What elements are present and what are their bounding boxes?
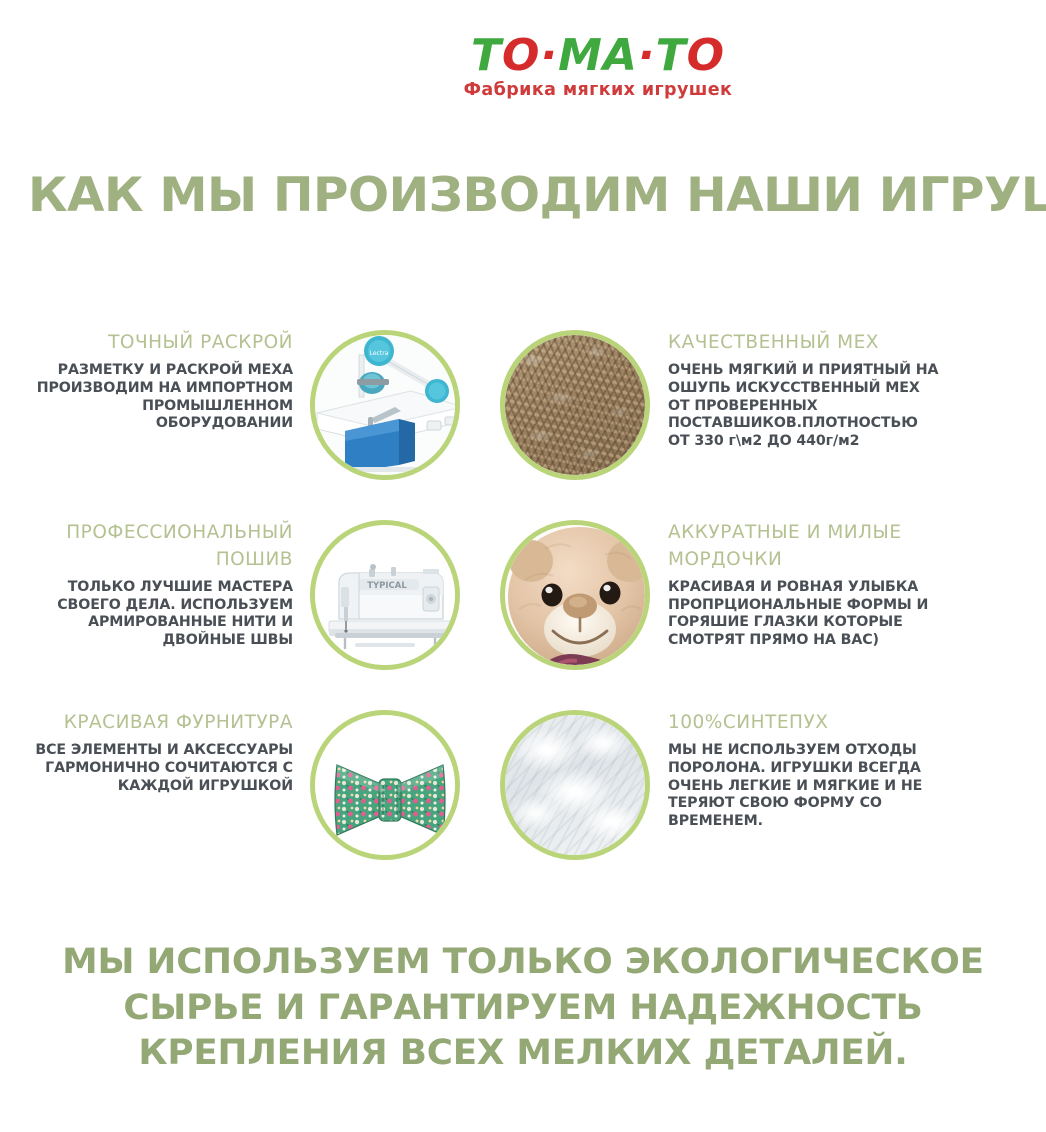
feature-image-bow-tie — [310, 710, 460, 860]
feature-text-professional-sewing: ПРОФЕССИОНАЛЬНЫЙ ПОШИВ ТОЛЬКО ЛУЧШИЕ МАС… — [18, 520, 293, 650]
logo-wordmark: TO·MA·TO — [471, 34, 725, 78]
feature-body: РАЗМЕТКУ И РАСКРОЙ МЕХА ПРОИЗВОДИМ НА ИМ… — [18, 362, 293, 434]
feature-body: ВСЕ ЭЛЕМЕНТЫ И АКСЕССУАРЫ ГАРМОНИЧНО СОЧ… — [18, 742, 293, 796]
feature-body: ТОЛЬКО ЛУЧШИЕ МАСТЕРА СВОЕГО ДЕЛА. ИСПОЛ… — [18, 579, 293, 651]
cutting-machine-icon: Lectra — [315, 335, 455, 475]
svg-text:TYPICAL: TYPICAL — [367, 581, 407, 591]
feature-image-fur — [500, 330, 650, 480]
feature-caption: КАЧЕСТВЕННЫЙ МЕХ — [668, 330, 943, 357]
feature-body: МЫ НЕ ИСПОЛЬЗУЕМ ОТХОДЫ ПОРОЛОНА. ИГРУШК… — [668, 742, 943, 831]
feature-row-3: КРАСИВАЯ ФУРНИТУРА ВСЕ ЭЛЕМЕНТЫ И АКСЕСС… — [0, 710, 1046, 900]
footer-line-1: МЫ ИСПОЛЬЗУЕМ ТОЛЬКО ЭКОЛОГИЧЕСКОЕ — [0, 940, 1046, 986]
feature-caption: ПРОФЕССИОНАЛЬНЫЙ ПОШИВ — [18, 520, 293, 574]
feature-caption: КРАСИВАЯ ФУРНИТУРА — [18, 710, 293, 737]
feature-caption: АККУРАТНЫЕ И МИЛЫЕ МОРДОЧКИ — [668, 520, 943, 574]
logo-tagline: Фабрика мягких игрушек — [464, 80, 733, 100]
feature-image-teddy-bear — [500, 520, 650, 670]
feature-row-2: ПРОФЕССИОНАЛЬНЫЙ ПОШИВ ТОЛЬКО ЛУЧШИЕ МАС… — [0, 520, 1046, 710]
footer-line-3: КРЕПЛЕНИЯ ВСЕХ МЕЛКИХ ДЕТАЛЕЙ. — [0, 1031, 1046, 1077]
feature-image-sewing-machine: TYPICAL — [310, 520, 460, 670]
svg-text:Lectra: Lectra — [370, 350, 389, 357]
feature-grid: ТОЧНЫЙ РАСКРОЙ РАЗМЕТКУ И РАСКРОЙ МЕХА П… — [0, 330, 1046, 900]
teddy-bear-face-icon — [505, 525, 645, 665]
feature-body: ОЧЕНЬ МЯГКИЙ И ПРИЯТНЫЙ НА ОШУПЬ ИСКУССТ… — [668, 362, 943, 451]
synthetic-filling-icon — [505, 715, 645, 855]
page-title: КАК МЫ ПРОИЗВОДИМ НАШИ ИГРУШКИ — [28, 168, 1046, 223]
footer-line-2: СЫРЬЕ И ГАРАНТИРУЕМ НАДЕЖНОСТЬ — [0, 986, 1046, 1032]
feature-caption: ТОЧНЫЙ РАСКРОЙ — [18, 330, 293, 357]
feature-text-accessories: КРАСИВАЯ ФУРНИТУРА ВСЕ ЭЛЕМЕНТЫ И АКСЕСС… — [18, 710, 293, 795]
bow-tie-icon — [315, 715, 455, 855]
feature-body: КРАСИВАЯ И РОВНАЯ УЛЫБКА ПРОПРЦИОНАЛЬНЫЕ… — [668, 579, 943, 651]
sewing-machine-icon: TYPICAL — [315, 525, 455, 665]
fur-texture-icon — [505, 335, 645, 475]
feature-text-precise-cutting: ТОЧНЫЙ РАСКРОЙ РАЗМЕТКУ И РАСКРОЙ МЕХА П… — [18, 330, 293, 433]
footer-statement: МЫ ИСПОЛЬЗУЕМ ТОЛЬКО ЭКОЛОГИЧЕСКОЕ СЫРЬЕ… — [0, 940, 1046, 1077]
feature-text-cute-faces: АККУРАТНЫЕ И МИЛЫЕ МОРДОЧКИ КРАСИВАЯ И Р… — [668, 520, 943, 650]
feature-image-cutting-machine: Lectra — [310, 330, 460, 480]
feature-row-1: ТОЧНЫЙ РАСКРОЙ РАЗМЕТКУ И РАСКРОЙ МЕХА П… — [0, 330, 1046, 520]
brand-logo: TO·MA·TO Фабрика мягких игрушек — [0, 34, 1046, 100]
feature-image-synthetic-filling — [500, 710, 650, 860]
feature-text-synthetic-filling: 100%СИНТЕПУХ МЫ НЕ ИСПОЛЬЗУЕМ ОТХОДЫ ПОР… — [668, 710, 943, 831]
feature-caption: 100%СИНТЕПУХ — [668, 710, 943, 737]
feature-text-quality-fur: КАЧЕСТВЕННЫЙ МЕХ ОЧЕНЬ МЯГКИЙ И ПРИЯТНЫЙ… — [668, 330, 943, 451]
